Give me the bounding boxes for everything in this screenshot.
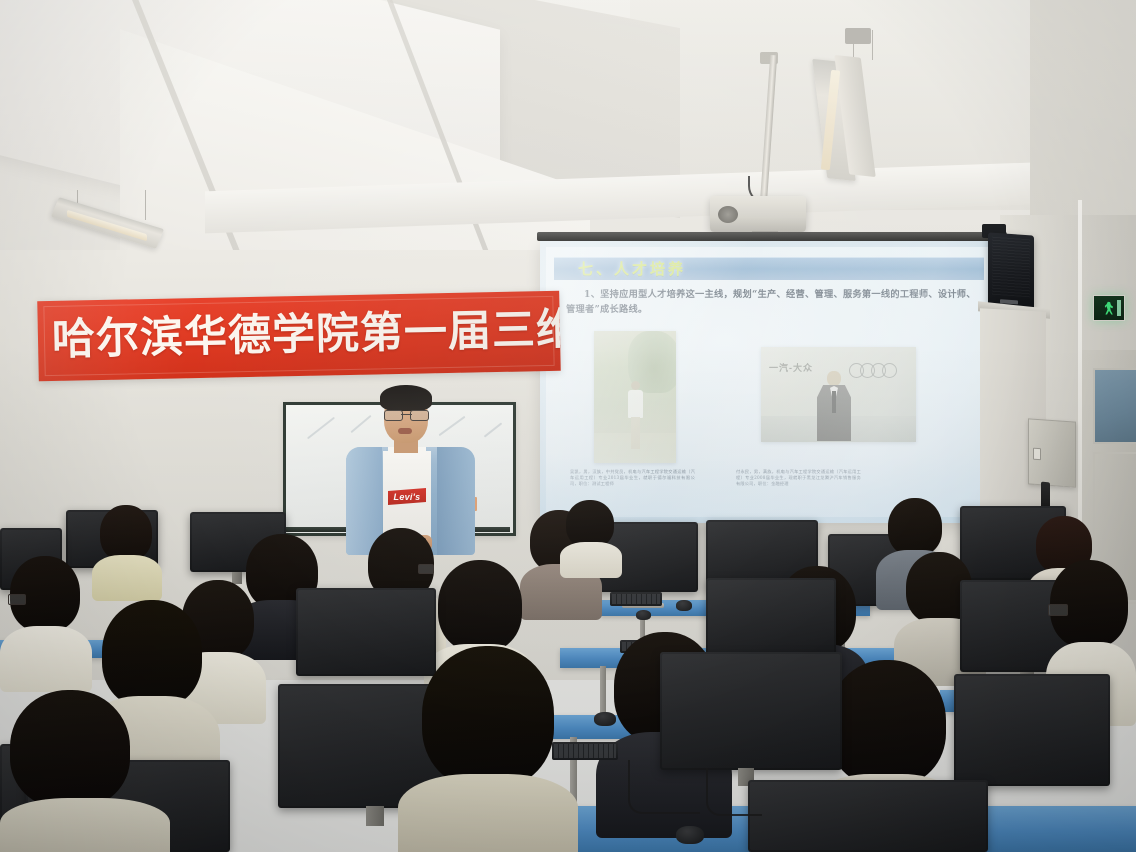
student: [92, 505, 162, 595]
slide-body-text: 1、坚持应用型人才培养这一主线，规划“生产、经营、管理、服务第一线的工程师、设计…: [566, 287, 976, 317]
person-figure: [628, 381, 643, 451]
electrical-cabinet[interactable]: [1028, 418, 1076, 487]
projector-lens-icon: [718, 206, 738, 223]
glasses-icon: [8, 594, 26, 605]
audi-rings-icon: [849, 363, 895, 376]
keyboard[interactable]: [610, 592, 662, 606]
slide-photo-group: 一汽-大众: [566, 327, 981, 467]
desktop-monitor: [954, 674, 1110, 786]
slide-photo-left: [594, 331, 676, 463]
desktop-monitor: [660, 652, 842, 770]
mouse[interactable]: [594, 712, 616, 726]
student: [0, 690, 170, 852]
powerpoint-slide: 七、人才培养 1、坚持应用型人才培养这一主线，规划“生产、经营、管理、服务第一线…: [546, 247, 995, 517]
faw-volkswagen-logo-text: 一汽-大众: [769, 361, 813, 374]
monitor-stand: [366, 806, 384, 826]
desk-cable: [628, 760, 700, 814]
student: [398, 646, 578, 852]
event-banner: 哈尔滨华德学院第一届三维数: [37, 291, 561, 381]
presenter-hair: [380, 385, 432, 411]
mouse[interactable]: [676, 826, 704, 844]
glasses-icon: [1048, 604, 1068, 616]
light-mount-bracket: [845, 28, 871, 44]
slide-photo-right: 一汽-大众: [761, 347, 916, 442]
student: [560, 500, 622, 574]
mouse[interactable]: [636, 610, 651, 620]
wall-speaker: [988, 232, 1034, 309]
projection-screen: 七、人才培养 1、坚持应用型人才培养这一主线，规划“生产、经营、管理、服务第一线…: [540, 241, 1001, 523]
exit-door-icon: [1117, 300, 1121, 316]
screen-roller-rail: [537, 232, 1007, 241]
student: [0, 556, 92, 686]
emergency-exit-sign: [1093, 295, 1125, 321]
slide-title: 七、人才培养: [578, 258, 686, 279]
desktop-monitor: [748, 780, 988, 852]
glasses-icon: [384, 410, 429, 419]
cabinet-latch-icon[interactable]: [1033, 448, 1041, 461]
classroom-presentation-photo: 七、人才培养 1、坚持应用型人才培养这一主线，规划“生产、经营、管理、服务第一线…: [0, 0, 1136, 852]
door-glass-upper: [1093, 368, 1136, 444]
banner-shading: [37, 291, 561, 381]
running-person-icon: [1105, 302, 1114, 315]
slide-caption-right: 付永民，男，满族，机电与汽车工程学院交通运输（汽车运用工程）专业2008届毕业生…: [736, 469, 861, 487]
mouse[interactable]: [676, 600, 692, 611]
slide-caption-left: 吴凯，男，汉族，中共党员，机电与汽车工程学院交通运输（汽车运用工程）专业2013…: [570, 469, 695, 487]
desk-cable: [706, 768, 762, 816]
presenter-mouth: [398, 428, 412, 434]
suited-person-figure: [817, 371, 851, 441]
ceiling-right-return: [1030, 0, 1136, 250]
